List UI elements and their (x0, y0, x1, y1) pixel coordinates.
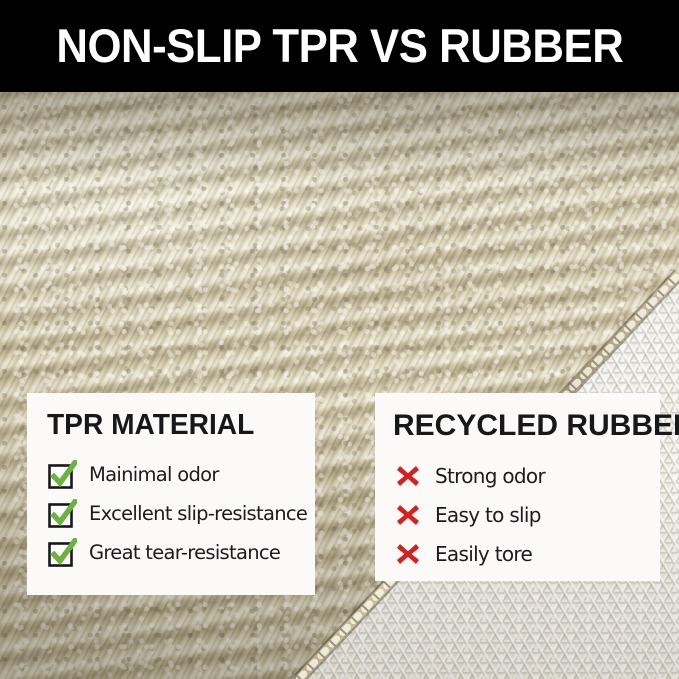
list-item: Strong odor (393, 461, 660, 491)
red-x-icon (395, 502, 421, 528)
red-x-icon (395, 541, 421, 567)
header-banner: NON-SLIP TPR VS RUBBER (0, 0, 679, 92)
red-x-icon (395, 463, 421, 489)
list-item-label: Great tear-resistance (89, 542, 280, 563)
tpr-card-heading: TPR MATERIAL (47, 411, 307, 440)
list-item-label: Mainimal odor (89, 464, 219, 485)
green-check-box-icon (47, 538, 77, 568)
rubber-card-heading: RECYCLED RUBBER (393, 411, 660, 441)
list-item-label: Easily tore (435, 543, 532, 565)
product-comparison-infographic: NON-SLIP TPR VS RUBBER (0, 0, 679, 679)
recycled-rubber-card: RECYCLED RUBBER Strong odor Easy to slip (375, 393, 660, 581)
list-item: Easily tore (393, 539, 660, 569)
list-item-label: Easy to slip (435, 504, 541, 526)
list-item: Easy to slip (393, 500, 660, 530)
list-item-label: Excellent slip-resistance (89, 503, 307, 524)
list-item: Great tear-resistance (47, 538, 315, 568)
tpr-feature-list: Mainimal odor Excellent slip-resistance (47, 460, 315, 568)
banner-title: NON-SLIP TPR VS RUBBER (56, 22, 623, 71)
list-item-label: Strong odor (435, 465, 545, 487)
list-item: Excellent slip-resistance (47, 499, 315, 529)
green-check-box-icon (47, 499, 77, 529)
list-item: Mainimal odor (47, 460, 315, 490)
tpr-material-card: TPR MATERIAL Mainimal odor (27, 393, 315, 595)
green-check-box-icon (47, 460, 77, 490)
rubber-feature-list: Strong odor Easy to slip Easily tore (393, 461, 660, 569)
